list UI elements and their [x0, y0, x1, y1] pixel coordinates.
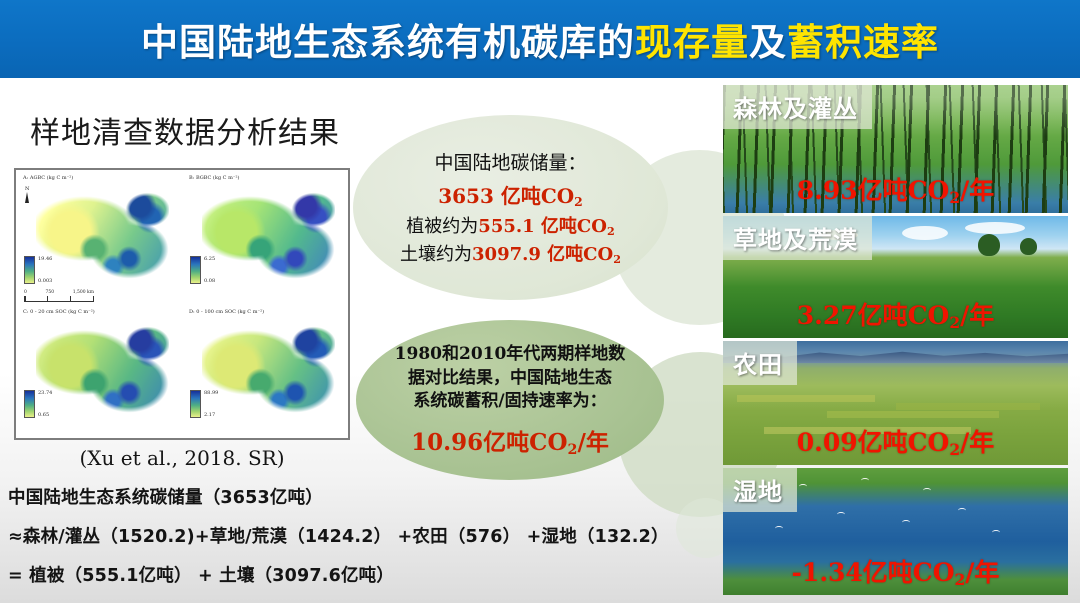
summary-line-1: 中国陆地生态系统碳储量（3653亿吨）: [8, 484, 708, 509]
legend-colorbar-c: [24, 390, 35, 418]
map-caption-c: C: 0 - 20 cm SOC (kg C m⁻²): [23, 309, 95, 315]
scalebar-v1: 750: [45, 290, 54, 295]
stock-soil: 土壤约为3097.9 亿吨CO2: [400, 240, 621, 266]
title-highlight-2: 蓄积速率: [787, 12, 939, 66]
map-raster-a: [36, 191, 169, 285]
map-legend-b: 6.25 0.08: [190, 256, 215, 284]
photo-value-grassland-sub: 2: [949, 313, 960, 332]
title-highlight-1: 现存量: [635, 12, 749, 66]
callout-sequestration-rate: 1980和2010年代两期样地数 据对比结果，中国陆地生态 系统碳蓄积/固持速率…: [356, 320, 664, 480]
map-caption-b: B: BGBC (kg C m⁻²): [189, 175, 239, 181]
stock-vegetation: 植被约为555.1 亿吨CO2: [406, 212, 614, 238]
map-caption-d: D: 0 - 100 cm SOC (kg C m⁻²): [189, 309, 264, 315]
rate-value-unit: /年: [577, 429, 608, 456]
legend-min-b: 0.08: [204, 278, 215, 284]
map-raster-c: [36, 325, 169, 419]
photo-value-wetland-unit: /年: [965, 558, 999, 587]
rate-value: 10.96亿吨CO2/年: [411, 423, 609, 457]
photo-value-farmland: 0.09亿吨CO2/年: [723, 423, 1068, 459]
photo-value-forest: 8.93亿吨CO2/年: [723, 171, 1068, 207]
legend-min-a: 0.003: [38, 278, 52, 284]
title-part-2: 及: [749, 12, 787, 66]
photo-value-forest-sub: 2: [949, 188, 960, 207]
stock-soil-label: 土壤约为: [400, 244, 472, 265]
slide-root: 中国陆地生态系统有机碳库的现存量及蓄积速率 样地清查数据分析结果 A: AGBC…: [0, 0, 1080, 603]
legend-colorbar-a: [24, 256, 35, 284]
summary-equation-block: 中国陆地生态系统碳储量（3653亿吨） ≈森林/灌丛（1520.2)+草地/荒漠…: [8, 484, 708, 601]
rate-value-sub: 2: [568, 442, 578, 458]
scalebar-ticks: [24, 296, 94, 302]
north-arrow-icon: N: [25, 186, 29, 203]
map-legend-a: 19.46 0.003: [24, 256, 52, 284]
rate-text-line-3: 系统碳蓄积/固持速率为：: [413, 390, 606, 413]
map-panel-bgbc: B: BGBC (kg C m⁻²) 6.25 0.08: [182, 170, 348, 304]
figure-citation: (Xu et al., 2018. SR): [14, 446, 350, 470]
summary-line-2: ≈森林/灌丛（1520.2)+草地/荒漠（1424.2） +农田（576） +湿…: [8, 523, 708, 548]
map-scalebar: 0 750 1,500 km: [24, 290, 94, 302]
stock-vegetation-value: 555.1 亿吨CO: [478, 216, 607, 237]
photo-tag-wetland: 湿地: [723, 468, 797, 512]
scalebar-v2: 1,500 km: [73, 290, 94, 295]
map-panel-soc-20: C: 0 - 20 cm SOC (kg C m⁻²) 23.74 0.65: [16, 304, 182, 438]
stock-vegetation-label: 植被约为: [406, 216, 478, 237]
title-part-1: 中国陆地生态系统有机碳库的: [141, 12, 635, 66]
stock-soil-sub: 2: [613, 253, 621, 266]
callout-carbon-stock: 中国陆地碳储量： 3653 亿吨CO2 植被约为555.1 亿吨CO2 土壤约为…: [353, 115, 668, 300]
stock-soil-value: 3097.9 亿吨CO: [472, 244, 613, 265]
photo-farmland: 农田 0.09亿吨CO2/年: [723, 341, 1068, 465]
map-legend-c: 23.74 0.65: [24, 390, 52, 418]
summary-line-3: = 植被（555.1亿吨） + 土壤（3097.6亿吨）: [8, 562, 708, 587]
legend-max-d: 88.99: [204, 390, 218, 396]
north-arrow-triangle: [25, 192, 29, 203]
photo-value-forest-unit: /年: [960, 176, 994, 205]
photo-value-grassland-number: 3.27亿吨CO: [797, 301, 950, 330]
stock-title: 中国陆地碳储量：: [434, 148, 586, 175]
section-heading-left: 样地清查数据分析结果: [30, 108, 360, 152]
photo-value-farmland-unit: /年: [960, 428, 994, 457]
photo-tag-grassland: 草地及荒漠: [723, 216, 872, 260]
legend-max-c: 23.74: [38, 390, 52, 396]
photo-value-grassland-unit: /年: [960, 301, 994, 330]
stock-vegetation-sub: 2: [607, 225, 615, 238]
photo-grassland-desert: 草地及荒漠 3.27亿吨CO2/年: [723, 216, 1068, 338]
title-banner: 中国陆地生态系统有机碳库的现存量及蓄积速率: [0, 0, 1080, 81]
rate-text-line-1: 1980和2010年代两期样地数: [395, 343, 626, 366]
legend-min-d: 2.17: [204, 412, 218, 418]
map-legend-d: 88.99 2.17: [190, 390, 218, 418]
map-raster-d: [202, 325, 335, 419]
banner-bottom-rule: [0, 78, 1080, 81]
legend-min-c: 0.65: [38, 412, 52, 418]
legend-max-a: 19.46: [38, 256, 52, 262]
north-label: N: [25, 186, 29, 192]
legend-colorbar-d: [190, 390, 201, 418]
legend-max-b: 6.25: [204, 256, 215, 262]
page-title: 中国陆地生态系统有机碳库的现存量及蓄积速率: [0, 0, 1080, 78]
photo-value-farmland-sub: 2: [949, 440, 960, 459]
stock-total-sub: 2: [574, 194, 583, 209]
ecosystem-photo-strip: 森林及灌丛 8.93亿吨CO2/年 草地及荒漠 3.27亿吨CO2/年 农田: [723, 85, 1068, 595]
map-raster-b: [202, 191, 335, 285]
stock-total-value: 3653 亿吨CO: [438, 184, 574, 208]
map-panel-soc-100: D: 0 - 100 cm SOC (kg C m⁻²) 88.99 2.17: [182, 304, 348, 438]
photo-wetland: 湿地 -1.34亿吨CO2/年: [723, 468, 1068, 595]
rate-text-line-2: 据对比结果，中国陆地生态: [408, 367, 612, 390]
legend-colorbar-b: [190, 256, 201, 284]
photo-value-farmland-number: 0.09亿吨CO: [797, 428, 950, 457]
map-caption-a: A: AGBC (kg C m⁻²): [23, 175, 73, 181]
china-map-figure: A: AGBC (kg C m⁻²) N 19.46 0.003 0 750 1…: [14, 168, 350, 440]
photo-value-forest-number: 8.93亿吨CO: [797, 176, 950, 205]
scalebar-v0: 0: [24, 290, 27, 295]
map-panel-agbc: A: AGBC (kg C m⁻²) N 19.46 0.003 0 750 1…: [16, 170, 182, 304]
photo-value-wetland: -1.34亿吨CO2/年: [723, 553, 1068, 589]
photo-tag-forest: 森林及灌丛: [723, 85, 872, 129]
stock-total: 3653 亿吨CO2: [438, 180, 583, 209]
rate-value-number: 10.96亿吨CO: [411, 429, 567, 456]
photo-forest-shrub: 森林及灌丛 8.93亿吨CO2/年: [723, 85, 1068, 213]
photo-value-wetland-number: -1.34亿吨CO: [792, 558, 955, 587]
photo-value-grassland: 3.27亿吨CO2/年: [723, 296, 1068, 332]
photo-tag-farmland: 农田: [723, 341, 797, 385]
photo-value-wetland-sub: 2: [955, 570, 966, 589]
